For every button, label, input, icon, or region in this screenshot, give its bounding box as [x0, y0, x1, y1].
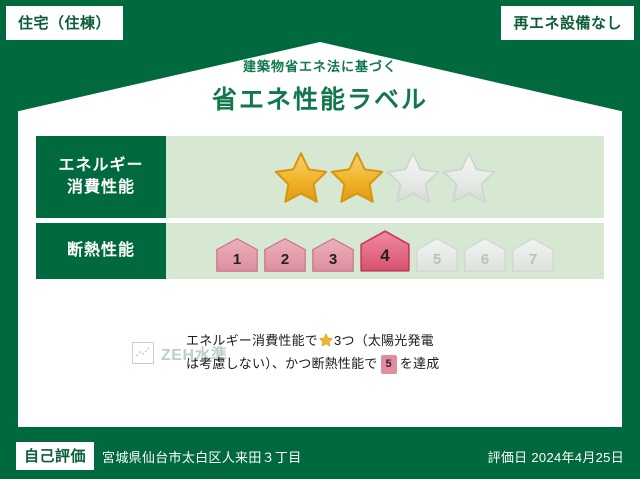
insulation-level-number: 6: [481, 251, 489, 268]
star-filled-icon: [330, 150, 384, 204]
zeh-standard: ZEH水準: [36, 341, 186, 365]
insulation-level-badge: 3: [311, 237, 355, 273]
energy-label-line2: 消費性能: [58, 177, 143, 199]
evaluation-date: 評価日 2024年4月25日: [488, 447, 624, 466]
renewable-energy-tag: 再エネ設備なし: [501, 6, 634, 40]
insulation-level-number: 1: [233, 251, 241, 268]
star-rating: [274, 150, 496, 204]
insulation-level-badge: 7: [511, 237, 555, 273]
footer-bar: 自己評価 宮城県仙台市太白区人来田３丁目 評価日 2024年4月25日: [0, 433, 640, 479]
energy-label-line1: エネルギー: [58, 155, 143, 177]
note-section: ZEH水準 エネルギー消費性能で3つ（太陽光発電 は考慮しない）、かつ断熱性能で…: [36, 330, 604, 376]
energy-performance-value: [166, 136, 604, 218]
achievement-description: エネルギー消費性能で3つ（太陽光発電 は考慮しない）、かつ断熱性能で5を達成: [186, 330, 604, 376]
inline-star-icon: [319, 332, 333, 346]
desc-line1-part2: 3つ（太陽光発電: [334, 333, 434, 348]
star-empty-icon: [386, 150, 440, 204]
insulation-level-number: 7: [529, 251, 537, 268]
energy-performance-label: エネルギー 消費性能: [36, 136, 166, 218]
insulation-level-badge: 5: [415, 237, 459, 273]
desc-line2-part2: を達成: [400, 356, 440, 371]
property-address: 宮城県仙台市太白区人来田３丁目: [102, 447, 302, 466]
insulation-performance-row: 断熱性能 1234567: [36, 223, 604, 279]
insulation-level-number: 3: [329, 251, 337, 268]
insulation-level-number: 2: [281, 251, 289, 268]
zeh-check-icon: [132, 342, 154, 364]
insulation-level-badge: 2: [263, 237, 307, 273]
insulation-level-number: 4: [380, 246, 389, 266]
desc-line1-part1: エネルギー消費性能で: [186, 333, 318, 348]
insulation-performance-label: 断熱性能: [36, 223, 166, 279]
energy-performance-row: エネルギー 消費性能: [36, 136, 604, 218]
star-filled-icon: [274, 150, 328, 204]
insulation-level-badge: 4: [359, 229, 411, 273]
building-type-tag: 住宅（住棟）: [6, 6, 123, 40]
desc-level-chip: 5: [381, 355, 397, 374]
insulation-performance-value: 1234567: [166, 223, 604, 279]
insulation-level-number: 5: [433, 251, 441, 268]
star-empty-icon: [442, 150, 496, 204]
ratings-section: エネルギー 消費性能 断熱性能 1234567: [36, 136, 604, 284]
insulation-level-badge: 1: [215, 237, 259, 273]
insulation-level-badges: 1234567: [215, 229, 555, 273]
desc-line2-part1: は考慮しない）、かつ断熱性能で: [186, 356, 378, 371]
evaluation-type-badge: 自己評価: [16, 442, 94, 470]
insulation-level-badge: 6: [463, 237, 507, 273]
